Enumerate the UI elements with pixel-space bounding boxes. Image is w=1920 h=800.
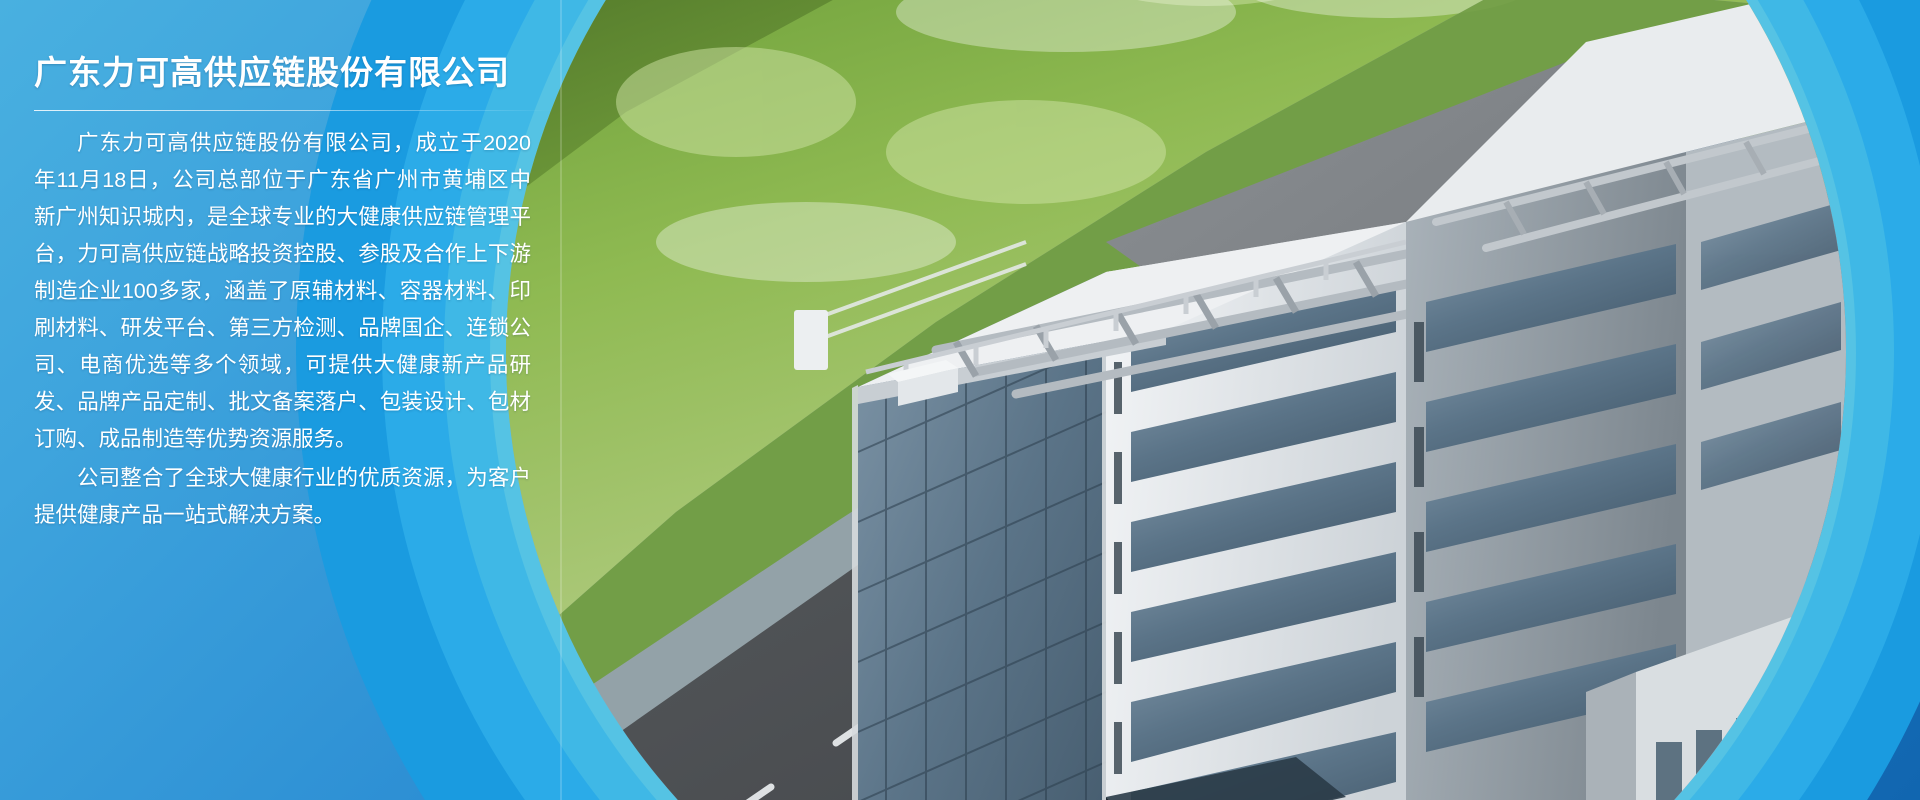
company-profile-banner: 广东力可高供应链股份有限公司 广东力可高供应链股份有限公司，成立于2020年11…	[0, 0, 1920, 800]
campus-photo	[506, 0, 1846, 800]
text-column: 广东力可高供应链股份有限公司 广东力可高供应链股份有限公司，成立于2020年11…	[0, 0, 560, 800]
company-summary-paragraph: 公司整合了全球大健康行业的优质资源，为客户提供健康产品一站式解决方案。	[34, 458, 531, 534]
campus-photo-illustration	[506, 0, 1846, 800]
page-title: 广东力可高供应链股份有限公司	[34, 0, 532, 93]
decorative-sheen	[560, 0, 562, 800]
company-intro-paragraph: 广东力可高供应链股份有限公司，成立于2020年11月18日，公司总部位于广东省广…	[34, 111, 531, 458]
